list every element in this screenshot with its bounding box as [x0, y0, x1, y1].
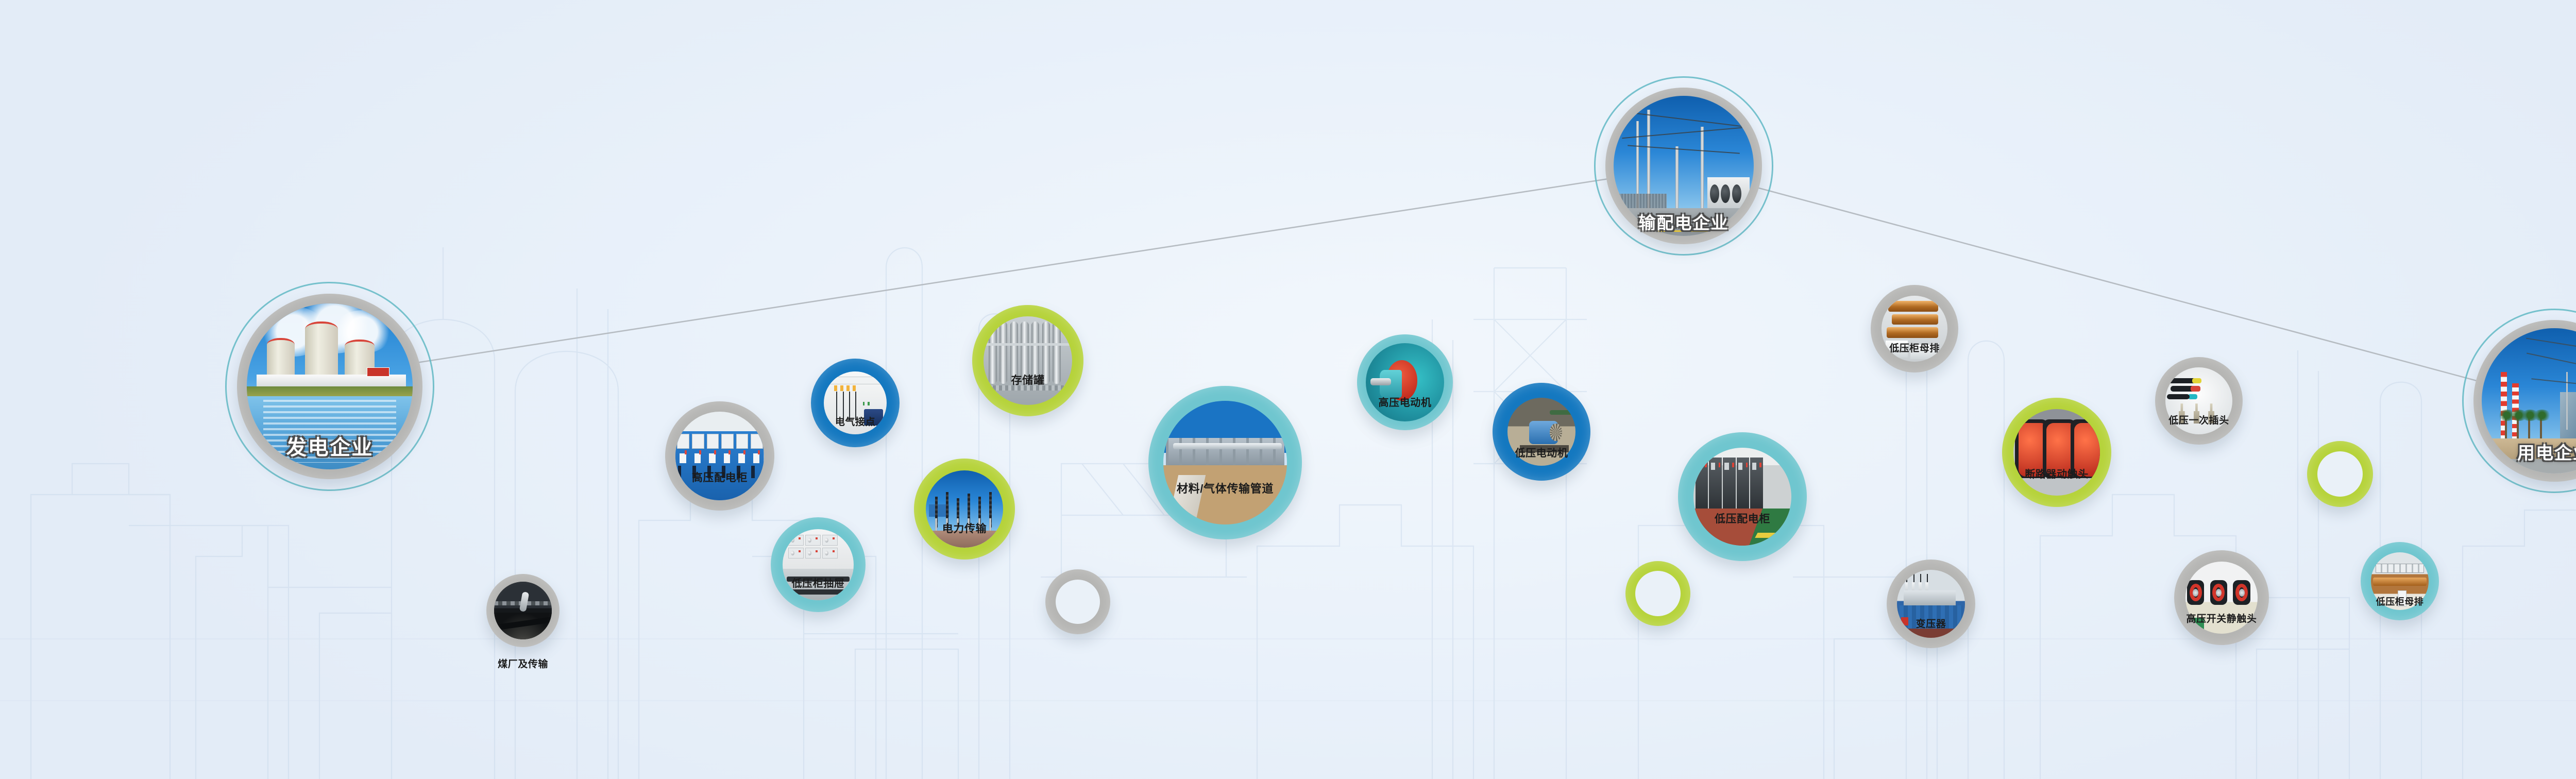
node-label: 高压配电柜: [692, 469, 748, 485]
node-label: 低压柜抽屉: [792, 575, 845, 590]
node-ring: [1357, 334, 1453, 430]
node-coal-plant-transport[interactable]: 煤厂及传输: [486, 574, 560, 647]
node-power-consumption[interactable]: 用电企业: [2473, 320, 2576, 482]
node-photo: [247, 303, 413, 469]
node-label: 低压柜母排: [1889, 341, 1940, 354]
node-hv-switch-static-contact[interactable]: 高压开关静触头: [2174, 550, 2269, 645]
node-hv-motor[interactable]: 高压电动机: [1357, 334, 1453, 430]
infographic-canvas: 发电企业 煤厂及传输 高压配电柜: [0, 0, 2576, 779]
node-label: 材料/气体传输管道: [1177, 480, 1274, 496]
node-ring: 发电企业: [237, 294, 422, 479]
node-breaker-moving-contact[interactable]: 断路器动触头: [2002, 398, 2111, 507]
hero-label: 发电企业: [286, 431, 374, 461]
node-ring: [2361, 542, 2439, 620]
node-label: 低压配电柜: [1715, 511, 1770, 526]
node-ring: [1148, 386, 1302, 539]
node-ring: [1493, 383, 1590, 481]
node-label: 断路器动触头: [2025, 466, 2089, 481]
node-ring: [771, 517, 866, 612]
hero-label: 用电企业: [2517, 439, 2576, 464]
node-label: 高压开关静触头: [2187, 611, 2257, 625]
node-photo: [2013, 409, 2100, 496]
decor-ring-gray: [1045, 569, 1110, 634]
node-lv-cabinet-busbar-2[interactable]: 低压柜母排: [2361, 542, 2439, 620]
node-ring: [2155, 357, 2243, 445]
node-hv-switchgear[interactable]: 高压配电柜: [665, 401, 774, 511]
node-power-transmission[interactable]: 电力传输: [914, 459, 1015, 560]
node-label: 存储罐: [1011, 372, 1045, 387]
node-material-gas-pipeline[interactable]: 材料/气体传输管道: [1148, 386, 1302, 539]
node-photo: [1614, 96, 1754, 236]
node-lv-primary-plug[interactable]: 低压一次插头: [2155, 357, 2243, 445]
node-ring: 输配电企业: [1605, 88, 1762, 244]
node-transmission[interactable]: 输配电企业: [1605, 88, 1762, 244]
hero-label: 输配电企业: [1639, 209, 1729, 234]
node-label: 电气接点: [835, 414, 875, 428]
node-lv-motor[interactable]: 低压电动机: [1493, 383, 1590, 481]
node-ring: [1678, 432, 1807, 561]
node-ring: [914, 459, 1015, 560]
node-label: 煤厂及传输: [498, 656, 548, 670]
node-label: 电力传输: [942, 520, 987, 536]
node-lv-switchgear[interactable]: 低压配电柜: [1678, 432, 1807, 561]
node-label: 低压电动机: [1515, 445, 1568, 460]
node-electrical-contacts[interactable]: 电气接点: [811, 359, 900, 447]
node-ring: [1871, 285, 1958, 372]
node-photo: [675, 412, 764, 500]
node-label: 变压器: [1916, 616, 1946, 630]
node-label: 高压电动机: [1379, 394, 1432, 409]
node-label: 低压柜母排: [2376, 595, 2424, 608]
node-photo: [494, 582, 552, 639]
node-ring: [811, 359, 900, 447]
node-lv-cabinet-drawer[interactable]: 低压柜抽屉: [771, 517, 866, 612]
node-photo: [1163, 401, 1287, 524]
node-ring: [972, 305, 1083, 416]
node-ring: [2174, 550, 2269, 645]
decor-ring-green-2: [2307, 441, 2373, 507]
node-photo: [1693, 448, 1791, 546]
decor-ring-green-1: [1625, 561, 1690, 626]
node-ring: [1887, 560, 1975, 648]
node-label: 低压一次插头: [2168, 413, 2229, 427]
node-lv-cabinet-busbar-1[interactable]: 低压柜母排: [1871, 285, 1958, 372]
node-ring: [665, 401, 774, 511]
node-photo: [984, 316, 1072, 405]
node-ring: [2002, 398, 2111, 507]
node-photo: [926, 470, 1003, 548]
node-ring: 用电企业: [2473, 320, 2576, 482]
node-photo: [1366, 343, 1444, 421]
node-transformer[interactable]: 变压器: [1887, 560, 1975, 648]
node-ring: [486, 574, 560, 647]
node-photo: [2482, 328, 2576, 473]
node-power-generation[interactable]: 发电企业: [237, 294, 422, 479]
node-storage-tank[interactable]: 存储罐: [972, 305, 1083, 416]
